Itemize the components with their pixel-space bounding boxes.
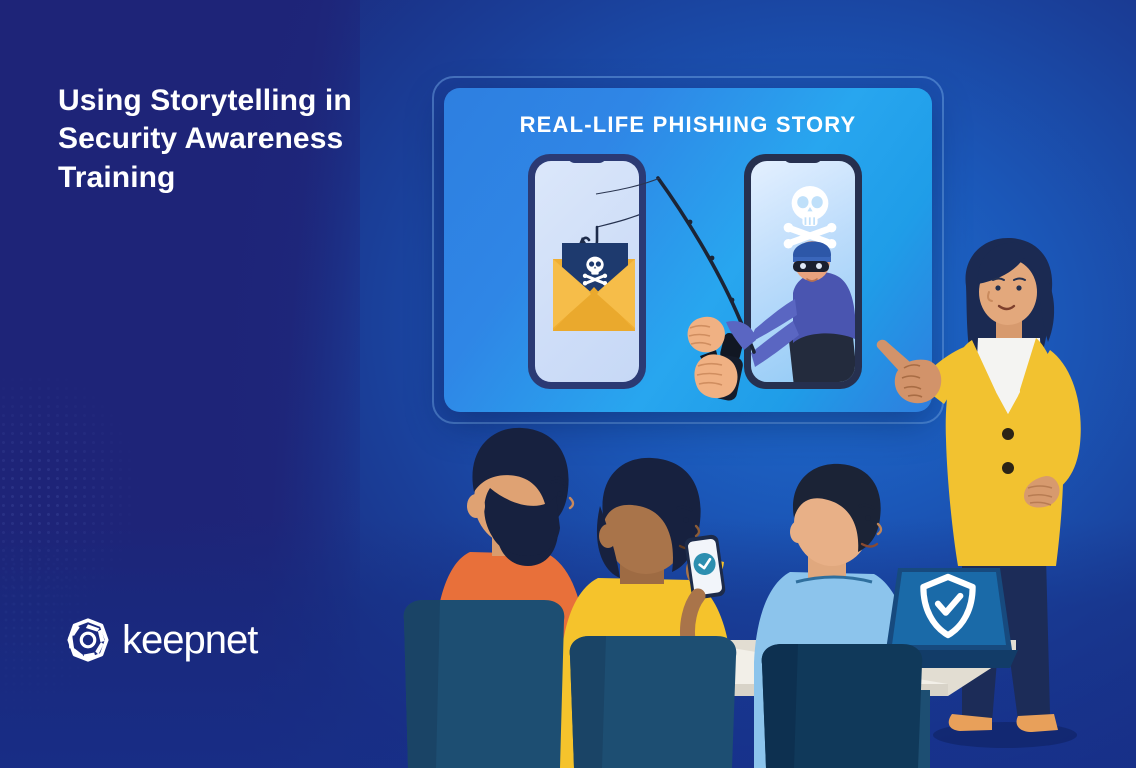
phone-screen-left [535,161,639,382]
page-title: Using Storytelling in Security Awareness… [58,82,438,197]
page-title-line-2: Security Awareness [58,120,438,158]
masked-hacker-figure [751,241,855,382]
page-title-line-1: Using Storytelling in [58,82,438,120]
brand-name: keepnet [122,620,257,660]
phone-screen-right [751,161,855,382]
presentation-screen[interactable]: REAL-LIFE PHISHING STORY [444,88,932,412]
hacker-with-fishing-rod-icon [751,161,855,382]
keepnet-shutter-logo-icon [62,614,114,666]
phone-hacker [744,154,862,389]
phone-notch [567,154,607,163]
phishing-email-envelope-with-skull-icon [535,161,639,382]
page-title-line-3: Training [58,159,438,197]
phone-phishing-email [528,154,646,389]
brand-logo[interactable]: keepnet [62,614,257,666]
banner-canvas: Using Storytelling in Security Awareness… [0,0,1136,768]
presentation-title: REAL-LIFE PHISHING STORY [444,112,932,138]
phone-notch [783,154,823,163]
